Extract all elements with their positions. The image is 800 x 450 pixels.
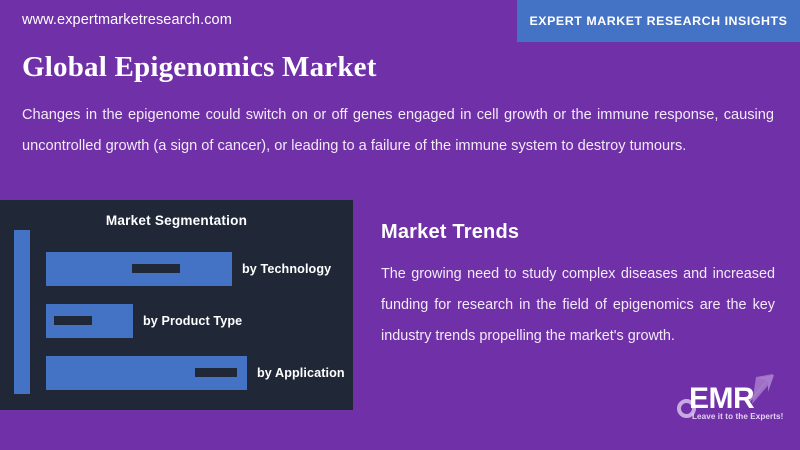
intro-paragraph: Changes in the epigenome could switch on… (22, 100, 774, 162)
chart-title: Market Segmentation (0, 213, 353, 228)
chart-bar (46, 252, 232, 286)
market-trends-body: The growing need to study complex diseas… (381, 259, 775, 352)
chart-y-axis (14, 230, 30, 394)
chart-bar (46, 304, 133, 338)
market-trends-title: Market Trends (381, 221, 519, 244)
chart-bar-row: by Technology (46, 252, 353, 286)
emr-wordmark: EMR (689, 384, 754, 414)
chart-bar-label: by Product Type (143, 314, 242, 328)
chart-bar-row: by Product Type (46, 304, 353, 338)
chart-bar-notch (54, 316, 92, 325)
insights-label: EXPERT MARKET RESEARCH INSIGHTS (517, 0, 800, 42)
chart-bar-label: by Application (257, 366, 345, 380)
insights-band: EXPERT MARKET RESEARCH INSIGHTS (517, 0, 800, 42)
market-segmentation-chart: Market Segmentation by Technology by Pro… (0, 200, 353, 410)
page-title: Global Epigenomics Market (22, 51, 377, 84)
chart-bar (46, 356, 247, 390)
site-url-label: www.expertmarketresearch.com (22, 12, 232, 28)
chart-bar-label: by Technology (242, 262, 331, 276)
chart-bar-notch (132, 264, 180, 273)
emr-tagline: Leave it to the Experts! (692, 412, 783, 421)
emr-logo: EMR Leave it to the Experts! (676, 372, 792, 430)
header-bar: www.expertmarketresearch.com EXPERT MARK… (0, 0, 800, 42)
chart-bar-row: by Application (46, 356, 353, 390)
chart-bar-notch (195, 368, 237, 377)
